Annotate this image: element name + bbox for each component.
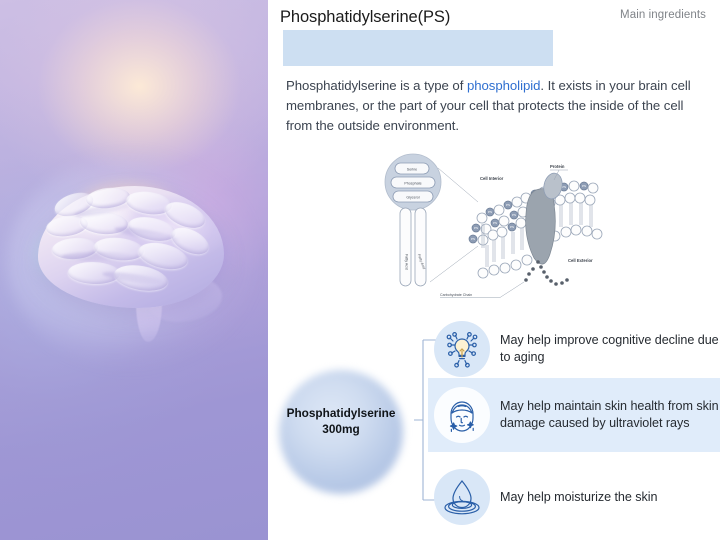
page-title: Phosphatidylserine(PS) (280, 8, 450, 27)
svg-text:PS: PS (510, 225, 514, 229)
benefit-row-cognitive[interactable]: May help improve cognitive decline due t… (428, 312, 720, 386)
brain-sulcus (62, 252, 132, 261)
content-panel: Main ingredients Phosphatidylserine(PS) … (268, 0, 720, 540)
brain-image (28, 178, 236, 346)
svg-text:PS: PS (471, 237, 475, 241)
dose-label: Phosphatidylserine 300mg (273, 405, 409, 437)
label-cell-exterior: Cell Exterior (568, 258, 593, 263)
label-carbohydrate-chain: Carbohydrate Chain (440, 293, 472, 297)
dose-amount: 300mg (273, 421, 409, 437)
label-fatty-acid-1: Fatty Acid (405, 254, 409, 270)
svg-text:PS: PS (512, 213, 516, 217)
benefits-section: Phosphatidylserine 300mg (268, 312, 720, 540)
svg-text:PS: PS (493, 221, 497, 225)
fatty-acid-tails: Fatty Acid Fatty Acid (400, 208, 426, 286)
body-paragraph: Phosphatidylserine is a type of phosphol… (286, 76, 702, 136)
svg-text:PS: PS (488, 210, 492, 214)
dose-name: Phosphatidylserine (273, 405, 409, 421)
face-sparkle-icon (434, 387, 490, 443)
svg-text:PS: PS (582, 184, 586, 188)
svg-text:PS: PS (562, 185, 566, 189)
body-text-part1: Phosphatidylserine is a type of (286, 78, 467, 93)
benefit-text: May help improve cognitive decline due t… (500, 332, 720, 366)
label-phosphate: Phosphate (404, 182, 421, 186)
benefit-row-skin-health[interactable]: May help maintain skin health from skin … (428, 378, 720, 452)
benefit-row-moisturize[interactable]: May help moisturize the skin (428, 460, 720, 534)
label-cell-interior: Cell Interior (480, 176, 504, 181)
svg-text:PS: PS (506, 203, 510, 207)
membrane-protein (526, 189, 556, 265)
benefit-text: May help moisturize the skin (500, 489, 658, 506)
svg-text:PS: PS (474, 226, 478, 230)
slide-root: Main ingredients Phosphatidylserine(PS) … (0, 0, 720, 540)
label-serine: Serine (407, 168, 417, 172)
phospholipid-link[interactable]: phospholipid (467, 78, 540, 93)
brain-illustration-panel (0, 0, 268, 540)
lightbulb-network-icon (434, 321, 490, 377)
phospholipid-membrane-diagram: .hd { fill:#fdfdfd; stroke:#9aa6b8; stro… (378, 150, 613, 310)
label-protein: Protein (550, 164, 565, 169)
carbohydrate-chain (524, 260, 569, 286)
label-glycerol: Glycerol (406, 196, 419, 200)
headgroup-capsules: Serine Phosphate Glycerol (391, 163, 435, 202)
water-drop-icon (434, 469, 490, 525)
title-band (283, 30, 553, 66)
page-eyebrow-label: Main ingredients (620, 9, 706, 21)
benefit-text: May help maintain skin health from skin … (500, 398, 720, 432)
